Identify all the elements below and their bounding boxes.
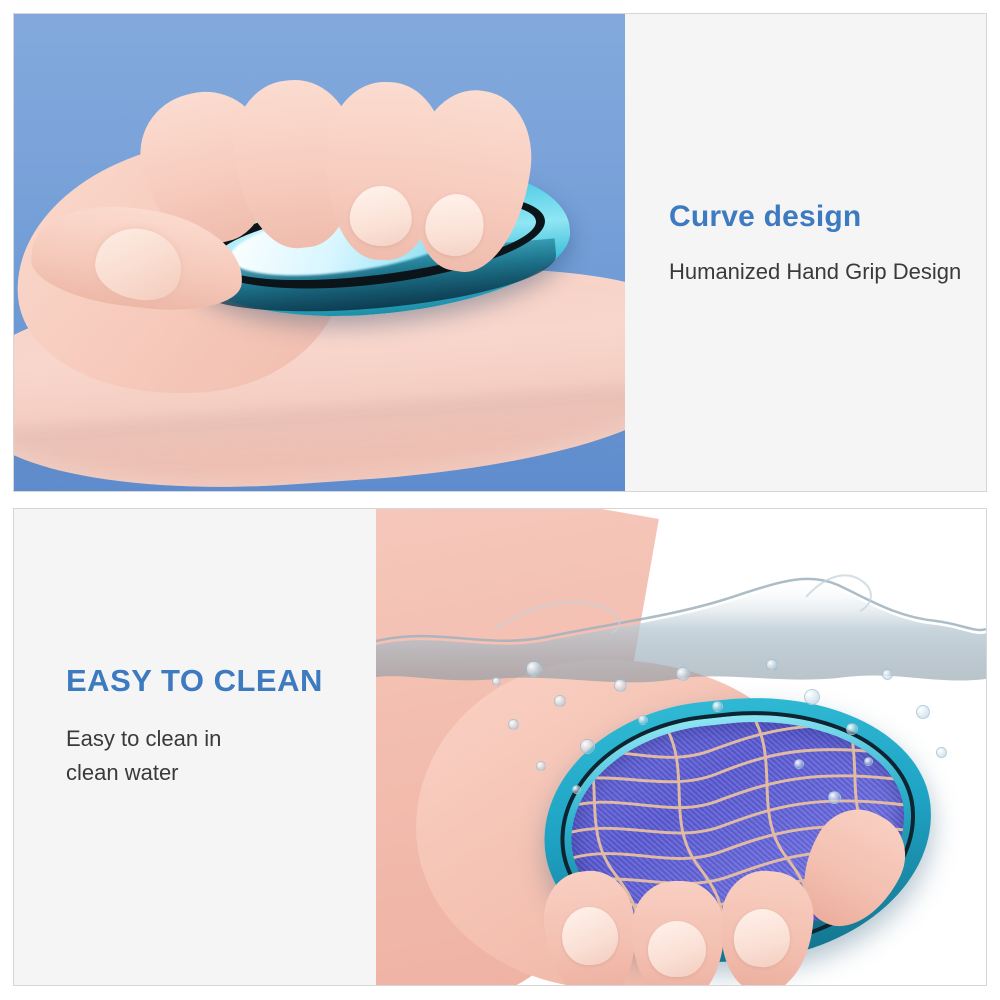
text-column-easy-to-clean: EASY TO CLEAN Easy to clean in clean wat… [14,509,376,985]
bubble [766,659,778,671]
section-easy-to-clean: EASY TO CLEAN Easy to clean in clean wat… [13,508,987,986]
heading-easy-to-clean: EASY TO CLEAN [66,664,366,698]
bubble [882,669,893,680]
body-curve-design: Humanized Hand Grip Design [669,255,969,289]
bubble [936,747,947,758]
text-column-curve-design: Curve design Humanized Hand Grip Design [625,14,986,491]
fingernail [648,921,706,977]
product-infographic-page: Curve design Humanized Hand Grip Design … [0,0,1000,1000]
section-curve-design: Curve design Humanized Hand Grip Design [13,13,987,492]
body-line-1: Easy to clean in [66,726,221,751]
body-line-2: clean water [66,760,179,785]
heading-curve-design: Curve design [669,200,969,233]
photo-foot-file-under-water [376,509,986,985]
body-easy-to-clean: Easy to clean in clean water [66,722,366,790]
photo-hand-gripping-foot-file [14,14,625,491]
